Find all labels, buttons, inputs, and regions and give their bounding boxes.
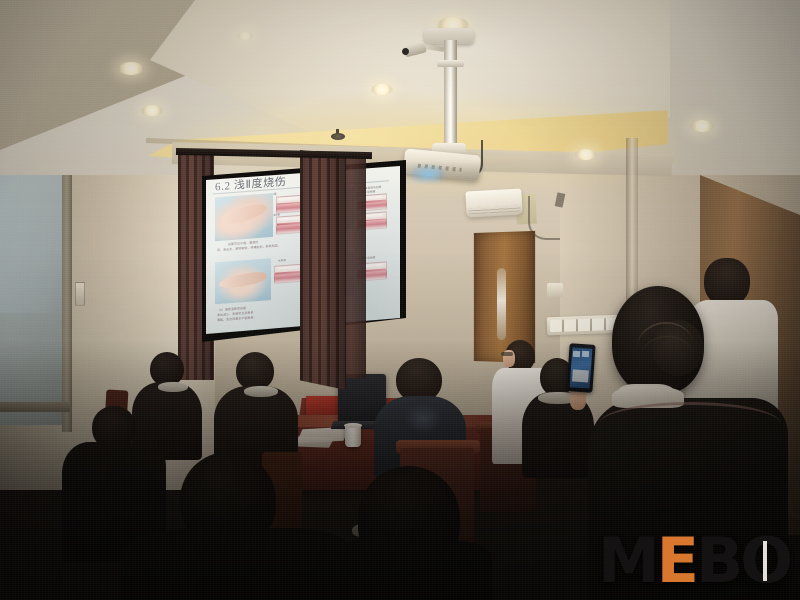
photo-scene: 6.2 浅Ⅱ度烧伤 Ⅰ度 浅Ⅱ度 （2）浅Ⅱ度烧伤创面 愈合后不留瘢痕: [0, 0, 800, 600]
slide-caption-2: 润，渗出多，感觉敏锐，疼痛剧烈，肿胀明显。: [217, 243, 281, 252]
projector-pole-collar: [437, 60, 464, 67]
downlight-icon: [690, 120, 714, 132]
watermark-letter-m: M: [598, 530, 657, 592]
light-switch[interactable]: [75, 282, 85, 306]
projector-pole-mount: [444, 40, 457, 148]
head: [150, 352, 184, 386]
phone-screen-thumb: [582, 351, 589, 357]
watermark-letter-o: O: [740, 530, 790, 592]
downlight-icon: [575, 149, 597, 160]
mebo-watermark: M E B O: [598, 530, 790, 592]
partition-frame-base: [0, 402, 70, 412]
split-air-conditioner: [465, 188, 522, 217]
conference-room: 6.2 浅Ⅱ度烧伤 Ⅰ度 浅Ⅱ度 （2）浅Ⅱ度烧伤创面 愈合后不留瘢痕: [0, 0, 800, 600]
burn-photo-arm: [215, 258, 271, 304]
diagram-label-5: 水疱皮: [278, 259, 286, 264]
burn-photo-legs: [215, 193, 273, 241]
skin-cross-section-1: [276, 195, 302, 214]
downlight-icon: [237, 32, 253, 40]
phone-screen-thumb: [573, 351, 580, 357]
watermark-letter-e: E: [657, 530, 696, 592]
diagram-label-2: 浅Ⅱ度: [273, 213, 280, 217]
torso: [316, 540, 492, 600]
uniform-collar: [158, 382, 188, 392]
smoke-detector: [331, 133, 345, 140]
paper-cup: [345, 425, 361, 447]
uniform-collar: [244, 386, 278, 397]
watermark-letter-b: B: [696, 530, 740, 592]
downlight-icon: [141, 105, 163, 116]
downlight-icon: [371, 84, 393, 95]
wall-socket[interactable]: [547, 283, 563, 297]
wall-switch-bank[interactable]: [547, 315, 622, 336]
skin-cross-section-2: [276, 215, 302, 235]
fabric-highlight: [404, 404, 442, 434]
glasses-icon: [501, 352, 513, 356]
head: [236, 352, 274, 390]
downlight-icon: [118, 62, 144, 75]
skin-cross-section-5: [274, 264, 302, 284]
curtain-right: [300, 150, 346, 390]
door-glass-panel: [497, 268, 506, 340]
diagram-label-1: Ⅰ度: [273, 193, 277, 197]
head: [704, 258, 750, 306]
